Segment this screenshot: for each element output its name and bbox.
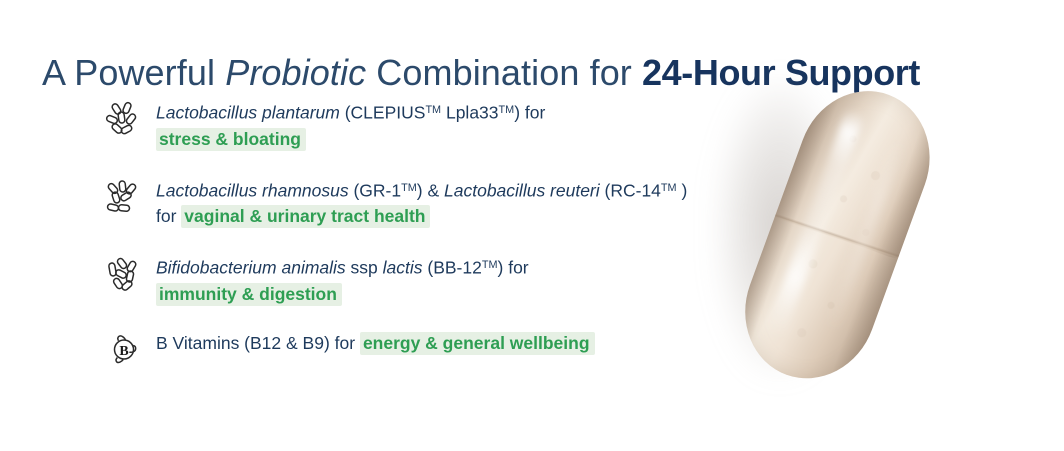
bacteria-cluster-icon [104, 174, 156, 220]
strain-name: Bifidobacterium animalis [156, 258, 346, 278]
strain-name: Lactobacillus plantarum [156, 103, 340, 123]
strain-code-mid: Lpla33 [441, 103, 498, 123]
list-item: B B Vitamins (B12 & B9) for energy & gen… [104, 329, 704, 373]
headline-emphasis: Probiotic [225, 52, 366, 93]
vitamin-b-icon: B [104, 329, 156, 373]
benefit-highlight: stress & bloating [156, 128, 306, 151]
strain-code: (BB-12 [423, 258, 482, 278]
trademark-symbol: TM [661, 182, 677, 194]
bacteria-cluster-icon [104, 96, 156, 142]
list-item-text: B Vitamins (B12 & B9) for energy & gener… [156, 329, 704, 356]
benefits-list: Lactobacillus plantarum (CLEPIUSTM Lpla3… [104, 96, 704, 373]
svg-text:B: B [119, 344, 128, 359]
strain-code: (CLEPIUS [340, 103, 426, 123]
list-item: Bifidobacterium animalis ssp lactis (BB-… [104, 251, 704, 307]
strain-code-secondary: (RC-14 [600, 180, 661, 200]
list-item: Lactobacillus rhamnosus (GR-1TM) & Lacto… [104, 174, 704, 230]
strain-code-close: ) for [514, 103, 545, 123]
benefit-highlight: immunity & digestion [156, 283, 342, 306]
benefit-highlight: energy & general wellbeing [360, 332, 595, 355]
strain-code-close: ) & [417, 180, 444, 200]
trademark-symbol: TM [401, 182, 417, 194]
trademark-symbol: TM [482, 259, 498, 271]
headline-part-1: A Powerful [42, 52, 225, 93]
strain-name-secondary: Lactobacillus reuteri [444, 180, 600, 200]
list-item-text: Lactobacillus plantarum (CLEPIUSTM Lpla3… [156, 96, 704, 152]
strain-subspecies-name: lactis [383, 258, 423, 278]
list-item-text: Lactobacillus rhamnosus (GR-1TM) & Lacto… [156, 174, 704, 230]
strain-code-close: ) for [498, 258, 529, 278]
trademark-symbol: TM [499, 104, 515, 116]
benefit-highlight: vaginal & urinary tract health [181, 205, 430, 228]
strain-code: (GR-1 [349, 180, 402, 200]
list-item-text: Bifidobacterium animalis ssp lactis (BB-… [156, 251, 704, 307]
trademark-symbol: TM [425, 104, 441, 116]
bacteria-cluster-icon [104, 251, 156, 297]
probiotic-promo-banner: A Powerful Probiotic Combination for 24-… [0, 0, 1064, 451]
strain-name: Lactobacillus rhamnosus [156, 180, 349, 200]
list-item: Lactobacillus plantarum (CLEPIUSTM Lpla3… [104, 96, 704, 152]
strain-subspecies-label: ssp [346, 258, 383, 278]
vitamin-label: B Vitamins (B12 & B9) for [156, 333, 360, 353]
headline-part-2: Combination for [366, 52, 642, 93]
probiotic-capsule-photo [700, 58, 1064, 451]
